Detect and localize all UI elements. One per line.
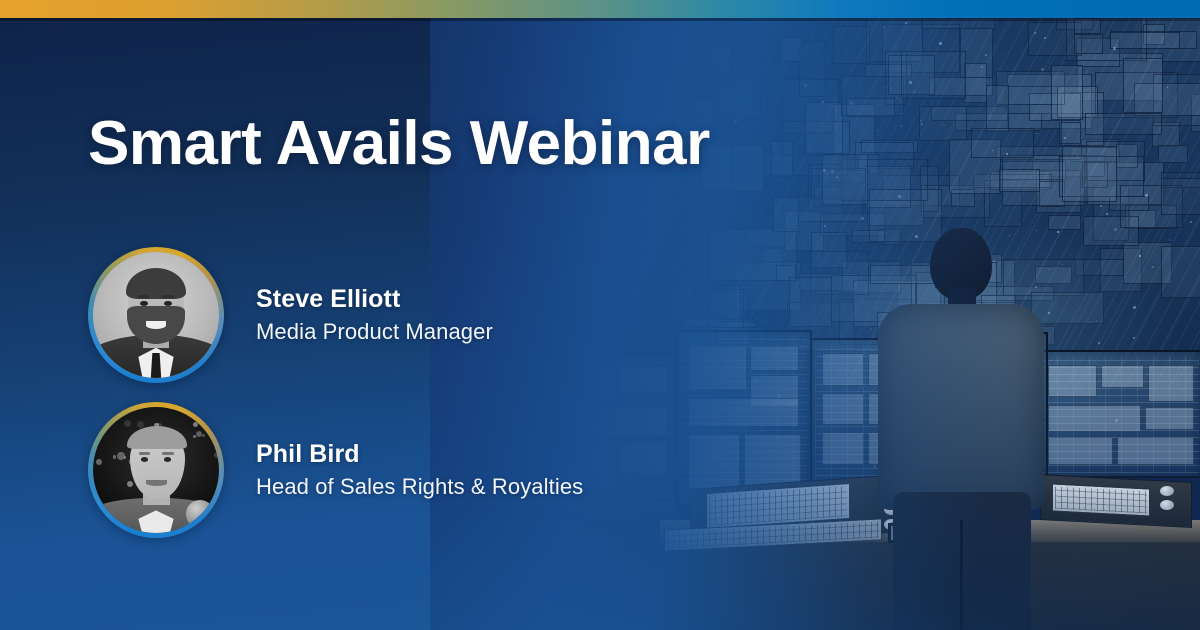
speaker-text: Steve Elliott Media Product Manager [256,285,493,344]
speaker-name: Steve Elliott [256,285,493,315]
portrait-eyebrow [162,295,173,298]
avatar [88,247,224,383]
portrait-eyebrow [138,295,149,298]
speaker-name: Phil Bird [256,440,583,470]
webinar-promo-banner: Smart Avails Webinar [0,0,1200,630]
speaker-card: Phil Bird Head of Sales Rights & Royalti… [88,402,583,538]
top-accent-bar [0,0,1200,18]
portrait-eye [164,457,172,461]
speaker-text: Phil Bird Head of Sales Rights & Royalti… [256,440,583,499]
speaker-role: Media Product Manager [256,319,493,345]
content-layer: Smart Avails Webinar [0,0,1200,630]
portrait-eye [140,301,148,306]
portrait-mouth [146,321,166,329]
portrait-eyebrow [162,452,173,455]
avatar-photo-steve-elliott [93,252,219,378]
portrait-eye [164,301,172,306]
page-title: Smart Avails Webinar [88,108,710,179]
avatar [88,402,224,538]
portrait-eyebrow [139,452,150,455]
portrait-eye [141,457,149,461]
speaker-role: Head of Sales Rights & Royalties [256,474,583,500]
microphone-icon [186,500,214,528]
portrait-mouth [146,480,167,486]
avatar-photo-phil-bird [93,407,219,533]
top-accent-bar-shadow [0,18,1200,21]
speaker-card: Steve Elliott Media Product Manager [88,247,493,383]
